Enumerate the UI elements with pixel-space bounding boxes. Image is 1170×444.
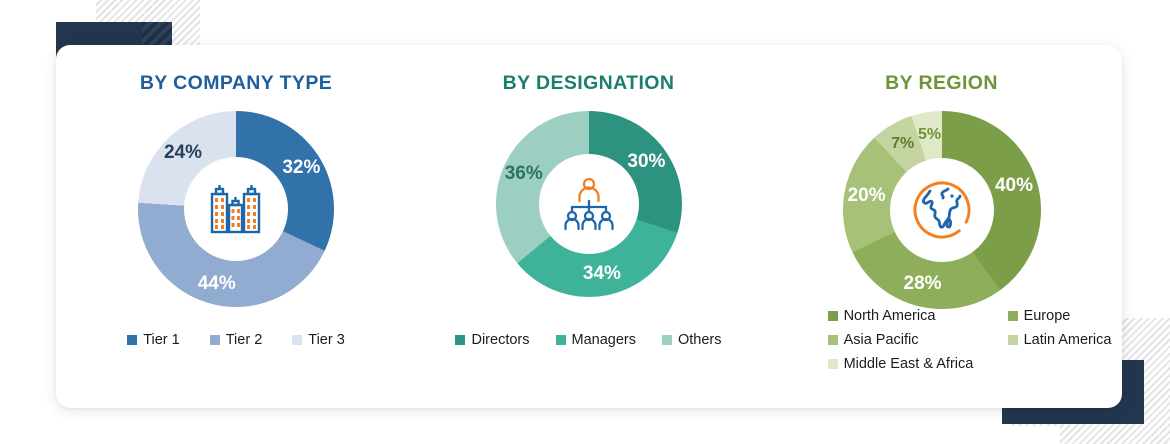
legend-item-latin-america[interactable]: Latin America <box>1008 332 1112 348</box>
org-chart-icon <box>559 175 619 233</box>
legend-swatch-icon <box>662 335 672 345</box>
legend-label: Tier 1 <box>143 332 180 348</box>
legend-item-north-america[interactable]: North America <box>828 308 936 324</box>
slice-label: 30% <box>627 151 665 173</box>
slice-label: 5% <box>918 126 941 144</box>
slice-label: 7% <box>891 135 914 153</box>
legend-label: Directors <box>471 332 529 348</box>
slice-label: 40% <box>995 175 1033 197</box>
legend-item-managers[interactable]: Managers <box>556 332 636 348</box>
legend-item-asia-pacific[interactable]: Asia Pacific <box>828 332 919 348</box>
slice-label: 24% <box>164 142 202 164</box>
legend-swatch-icon <box>210 335 220 345</box>
donut-center-company-type <box>184 157 288 261</box>
legend-swatch-icon <box>1008 335 1018 345</box>
legend-label: Middle East & Africa <box>844 356 974 372</box>
legend-label: Europe <box>1024 308 1071 324</box>
legend-designation: DirectorsManagersOthers <box>416 332 761 348</box>
page-title-designation: BY DESIGNATION <box>416 72 761 95</box>
legend-swatch-icon <box>828 359 838 369</box>
slice-label: 32% <box>282 157 320 179</box>
page-title-company-type: BY COMPANY TYPE <box>56 72 416 95</box>
legend-company-type: Tier 1Tier 2Tier 3 <box>56 332 416 348</box>
infographic-canvas: BY COMPANY TYPE <box>0 0 1170 444</box>
buildings-icon <box>205 178 267 240</box>
donut-center-region <box>890 158 994 262</box>
legend-item-tier-3[interactable]: Tier 3 <box>292 332 345 348</box>
legend-item-middle-east-africa[interactable]: Middle East & Africa <box>828 356 974 372</box>
legend-label: Tier 3 <box>308 332 345 348</box>
donut-wrap-company-type: 32%44%24% <box>138 111 334 307</box>
legend-label: Others <box>678 332 722 348</box>
legend-item-tier-1[interactable]: Tier 1 <box>127 332 180 348</box>
slice-label: 44% <box>198 273 236 295</box>
legend-region: North AmericaEuropeAsia PacificLatin Ame… <box>761 308 1122 372</box>
donut-wrap-designation: 30%34%36% <box>496 111 682 297</box>
legend-swatch-icon <box>828 335 838 345</box>
legend-label: North America <box>844 308 936 324</box>
legend-swatch-icon <box>1008 311 1018 321</box>
donut-chart-region[interactable]: 40%28%20%7%5% <box>843 111 1041 309</box>
donut-center-designation <box>539 154 639 254</box>
legend-item-others[interactable]: Others <box>662 332 722 348</box>
legend-swatch-icon <box>455 335 465 345</box>
donut-chart-designation[interactable]: 30%34%36% <box>496 111 682 297</box>
globe-icon <box>908 176 976 244</box>
legend-label: Asia Pacific <box>844 332 919 348</box>
chart-panel-region: BY REGION <box>761 45 1122 408</box>
slice-label: 36% <box>505 163 543 185</box>
chart-panel-company-type: BY COMPANY TYPE <box>56 45 416 408</box>
slice-label: 28% <box>904 273 942 295</box>
chart-card: BY COMPANY TYPE <box>56 45 1122 408</box>
donut-wrap-region: 40%28%20%7%5% <box>843 111 1041 309</box>
slice-label: 20% <box>848 185 886 207</box>
page-title-region: BY REGION <box>761 72 1122 95</box>
legend-item-europe[interactable]: Europe <box>1008 308 1071 324</box>
legend-swatch-icon <box>127 335 137 345</box>
legend-item-tier-2[interactable]: Tier 2 <box>210 332 263 348</box>
legend-label: Tier 2 <box>226 332 263 348</box>
legend-label: Managers <box>572 332 636 348</box>
donut-chart-company-type[interactable]: 32%44%24% <box>138 111 334 307</box>
legend-swatch-icon <box>828 311 838 321</box>
legend-swatch-icon <box>556 335 566 345</box>
legend-swatch-icon <box>292 335 302 345</box>
chart-panel-designation: BY DESIGNATION <box>416 45 761 408</box>
legend-item-directors[interactable]: Directors <box>455 332 529 348</box>
legend-label: Latin America <box>1024 332 1112 348</box>
slice-label: 34% <box>583 263 621 285</box>
